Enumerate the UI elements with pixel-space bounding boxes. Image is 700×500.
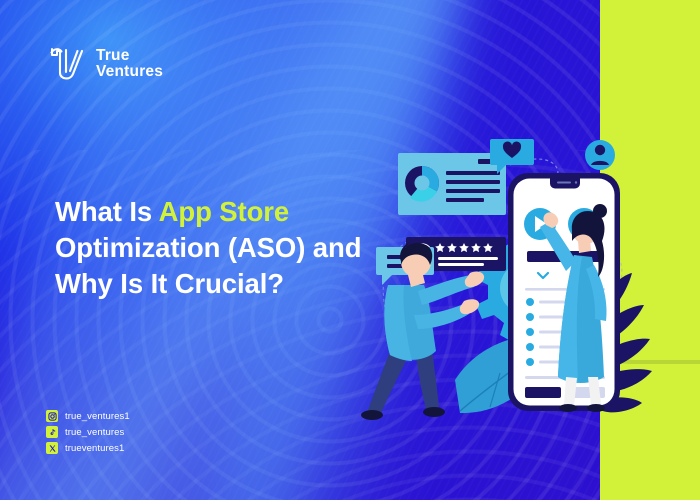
social-handle-instagram: true_ventures1 bbox=[65, 411, 130, 422]
user-avatar-icon bbox=[585, 140, 615, 170]
social-row-instagram[interactable]: true_ventures1 bbox=[46, 410, 130, 422]
social-handle-tiktok: true_ventures bbox=[65, 427, 124, 438]
social-row-tiktok[interactable]: true_ventures bbox=[46, 426, 130, 438]
tv-monogram-icon bbox=[48, 42, 88, 86]
headline-highlight: App Store bbox=[159, 196, 290, 227]
aso-illustration bbox=[360, 125, 700, 455]
social-handle-x: trueventures1 bbox=[65, 443, 124, 454]
headline: What Is App Store Optimization (ASO) and… bbox=[55, 194, 385, 301]
headline-part1: What Is bbox=[55, 196, 159, 227]
social-handles-list: true_ventures1 true_ventures trueventure… bbox=[46, 410, 130, 454]
social-row-x[interactable]: trueventures1 bbox=[46, 442, 130, 454]
brand-name-line1: True bbox=[96, 48, 163, 64]
analytics-card-donut-chart bbox=[398, 153, 506, 215]
headline-part2: Optimization (ASO) and Why Is It Crucial… bbox=[55, 232, 361, 299]
x-twitter-icon bbox=[46, 442, 58, 454]
brand-name-line2: Ventures bbox=[96, 64, 163, 80]
brand-name: True Ventures bbox=[96, 48, 163, 80]
tiktok-icon bbox=[46, 426, 58, 438]
banner-canvas: True Ventures What Is App Store Optimiza… bbox=[0, 0, 700, 500]
instagram-icon bbox=[46, 410, 58, 422]
brand-logo[interactable]: True Ventures bbox=[48, 42, 163, 86]
